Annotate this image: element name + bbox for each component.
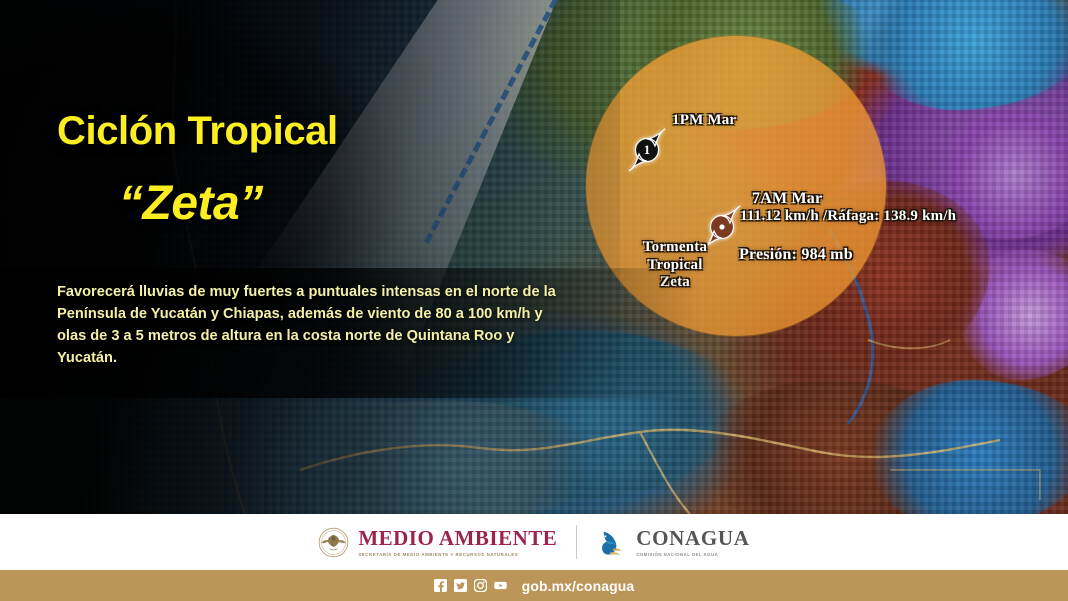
youtube-icon[interactable] — [494, 579, 507, 592]
satellite-map: 1 1PM Mar 7AM Mar 111.12 km/h /Ráfaga: 1… — [0, 0, 1068, 514]
facebook-icon[interactable] — [434, 579, 447, 592]
conagua-subtitle: COMISIÓN NACIONAL DEL AGUA — [636, 552, 749, 557]
infographic-page: 1 1PM Mar 7AM Mar 111.12 km/h /Ráfaga: 1… — [0, 0, 1068, 601]
conagua-logo: CONAGUA COMISIÓN NACIONAL DEL AGUA — [596, 527, 749, 558]
semarnat-title: MEDIO AMBIENTE — [358, 527, 557, 549]
footer-logo-bar: MEDIO AMBIENTE SECRETARÍA DE MEDIO AMBIE… — [0, 514, 1068, 570]
website-url[interactable]: gob.mx/conagua — [522, 578, 635, 594]
conagua-title: CONAGUA — [636, 527, 749, 549]
semarnat-subtitle: SECRETARÍA DE MEDIO AMBIENTE Y RECURSOS … — [358, 552, 557, 557]
conagua-text-block: CONAGUA COMISIÓN NACIONAL DEL AGUA — [636, 527, 749, 556]
storm-name-title: “Zeta” — [119, 180, 263, 228]
wind-speed-label: 111.12 km/h /Ráfaga: 138.9 km/h — [740, 208, 956, 225]
page-title: Ciclón Tropical — [57, 111, 338, 151]
twitter-icon[interactable] — [454, 579, 467, 592]
logo-divider — [576, 525, 577, 559]
forecast-point-label: 1PM Mar — [672, 112, 736, 129]
conagua-water-eagle-icon — [596, 527, 627, 558]
current-point-label: 7AM Mar — [752, 190, 822, 208]
forecast-description: Favorecerá lluvias de muy fuertes a punt… — [57, 282, 567, 370]
footer-social-bar: gob.mx/conagua — [0, 570, 1068, 601]
left-dark-overlay — [0, 0, 620, 514]
pressure-label: Presión: 984 mb — [739, 246, 853, 264]
semarnat-logo: MEDIO AMBIENTE SECRETARÍA DE MEDIO AMBIE… — [318, 527, 557, 558]
instagram-icon[interactable] — [474, 579, 487, 592]
mexico-eagle-emblem-icon — [318, 527, 349, 558]
hurricane-symbol-category-1: 1 — [625, 128, 669, 172]
semarnat-text-block: MEDIO AMBIENTE SECRETARÍA DE MEDIO AMBIE… — [358, 527, 557, 556]
